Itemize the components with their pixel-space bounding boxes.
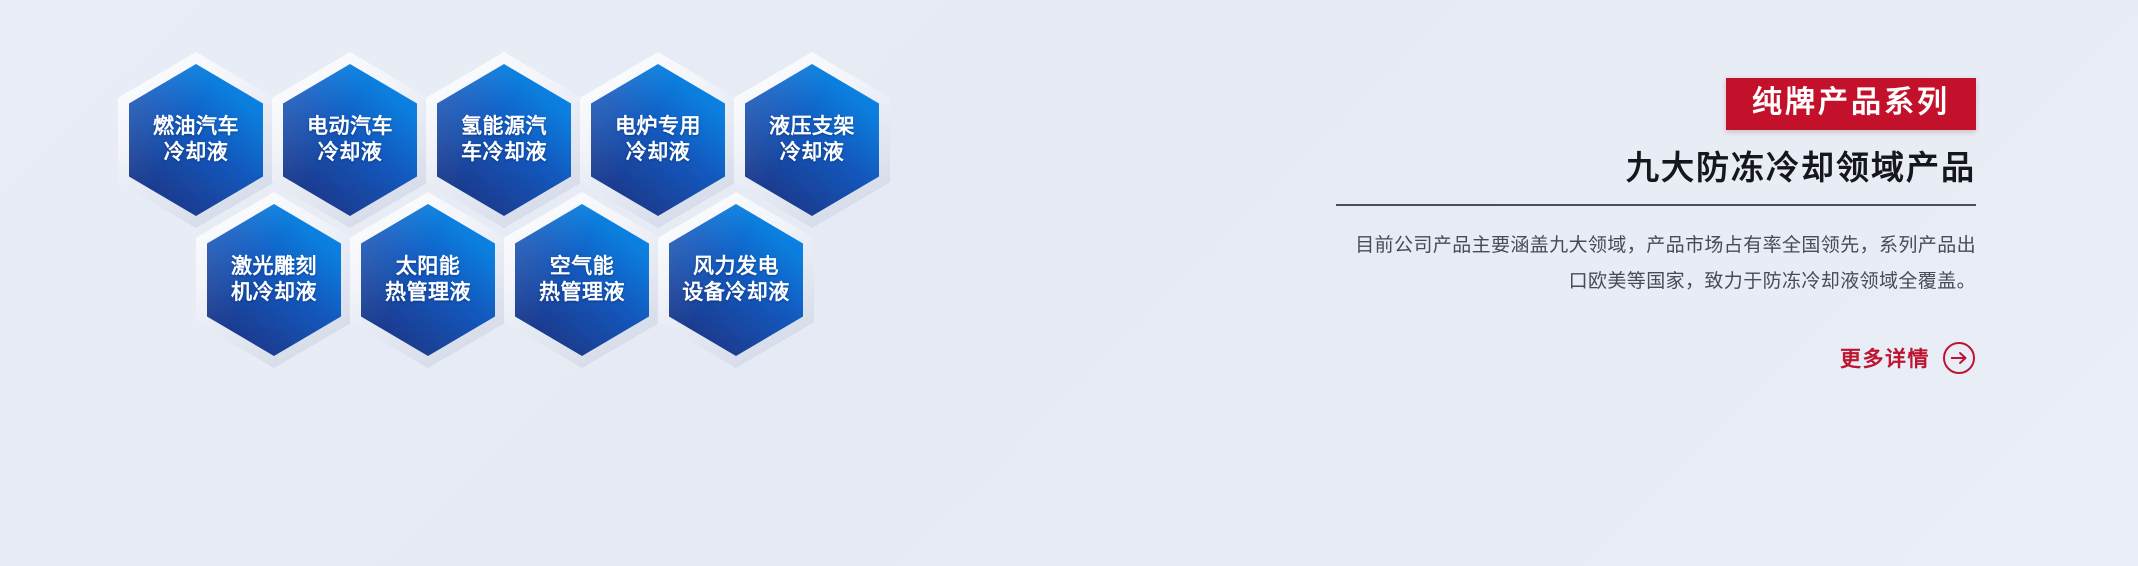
hexagon-item-solar-thermal-fluid[interactable]: 太阳能 热管理液 <box>350 192 506 368</box>
hexagon-item-laser-engraver-coolant[interactable]: 激光雕刻 机冷却液 <box>196 192 352 368</box>
hexagon-label: 电动汽车 冷却液 <box>301 114 399 165</box>
title-divider <box>1336 204 1976 206</box>
hexagon-label: 液压支架 冷却液 <box>763 114 861 165</box>
hexagon-label: 电炉专用 冷却液 <box>609 114 707 165</box>
product-banner: 燃油汽车 冷却液 电动汽车 冷却液 氢能源汽 车冷却液 电炉专用 冷却液 <box>0 0 2138 566</box>
product-series-badge: 纯牌产品系列 <box>1726 78 1976 130</box>
hexagon-label: 燃油汽车 冷却液 <box>147 114 245 165</box>
page-title: 九大防冻冷却领域产品 <box>1336 148 1976 188</box>
hexagon-label: 风力发电 设备冷却液 <box>676 254 796 305</box>
more-details-label: 更多详情 <box>1840 343 1930 373</box>
hexagon-cluster: 燃油汽车 冷却液 电动汽车 冷却液 氢能源汽 车冷却液 电炉专用 冷却液 <box>118 52 918 352</box>
hexagon-item-wind-power-equipment-coolant[interactable]: 风力发电 设备冷却液 <box>658 192 814 368</box>
more-details-link[interactable]: 更多详情 <box>1336 341 1976 375</box>
hexagon-label: 空气能 热管理液 <box>533 254 631 305</box>
description-text: 目前公司产品主要涵盖九大领域，产品市场占有率全国领先，系列产品出口欧美等国家，致… <box>1336 228 1976 301</box>
info-panel: 纯牌产品系列 九大防冻冷却领域产品 目前公司产品主要涵盖九大领域，产品市场占有率… <box>1336 78 1976 375</box>
hexagon-row-2: 激光雕刻 机冷却液 太阳能 热管理液 空气能 热管理液 风力发电 设备冷却液 <box>196 192 812 368</box>
hexagon-label: 太阳能 热管理液 <box>379 254 477 305</box>
arrow-right-circle-icon <box>1942 341 1976 375</box>
hexagon-item-air-energy-thermal-fluid[interactable]: 空气能 热管理液 <box>504 192 660 368</box>
hexagon-label: 氢能源汽 车冷却液 <box>455 114 553 165</box>
hexagon-label: 激光雕刻 机冷却液 <box>225 254 323 305</box>
